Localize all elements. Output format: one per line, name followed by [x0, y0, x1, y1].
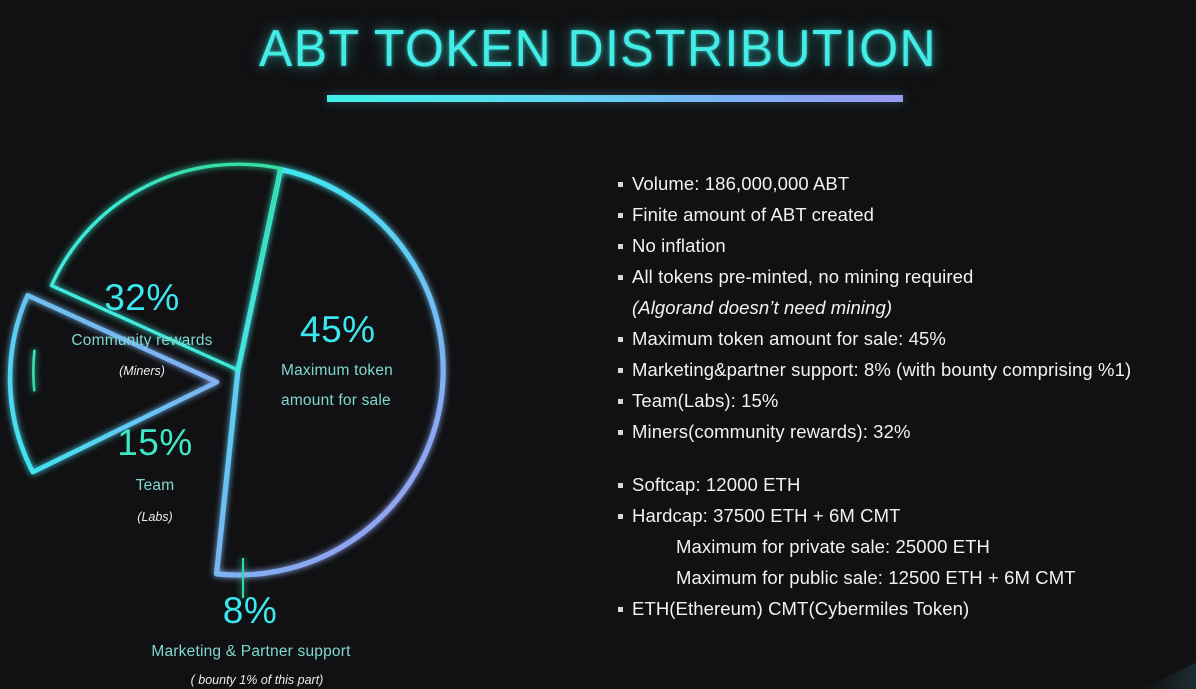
facts-row-text: ETH(Ethereum) CMT(Cybermiles Token): [614, 593, 969, 624]
facts-row: Volume: 186,000,000 ABT: [614, 168, 1184, 199]
facts-row-text: All tokens pre-minted, no mining require…: [614, 261, 973, 292]
facts-row: Hardcap: 37500 ETH + 6M CMT: [614, 500, 1184, 531]
facts-row: No inflation: [614, 230, 1184, 261]
slide-canvas: ABT TOKEN DISTRIBUTION: [0, 0, 1196, 689]
facts-row-text: No inflation: [614, 230, 726, 261]
corner-artifact: [1066, 643, 1196, 689]
pie-slice-sale[interactable]: [196, 169, 482, 612]
facts-row-text: Miners(community rewards): 32%: [614, 416, 911, 447]
facts-row-text: Marketing&partner support: 8% (with boun…: [614, 354, 1131, 385]
facts-list: Volume: 186,000,000 ABTFinite amount of …: [614, 168, 1184, 624]
facts-row: Team(Labs): 15%: [614, 385, 1184, 416]
slice-sale-label-line2: amount for sale: [281, 392, 391, 409]
facts-spacer: [614, 447, 1184, 469]
facts-row: Miners(community rewards): 32%: [614, 416, 1184, 447]
facts-row: Maximum for public sale: 12500 ETH + 6M …: [614, 562, 1184, 593]
facts-row-text: Volume: 186,000,000 ABT: [614, 168, 849, 199]
pie-chart-svg: 45% Maximum token amount for sale 32% Co…: [0, 130, 500, 689]
slice-sale-label-line1: Maximum token: [281, 362, 393, 379]
slice-sale-percent: 45%: [300, 309, 376, 350]
pie-slice-team[interactable]: [10, 295, 217, 472]
bullet-square-icon: [618, 430, 623, 435]
facts-row-text: (Algorand doesn’t need mining): [614, 292, 892, 323]
bullet-square-icon: [618, 368, 623, 373]
facts-row: Marketing&partner support: 8% (with boun…: [614, 354, 1184, 385]
facts-row: (Algorand doesn’t need mining): [614, 292, 1184, 323]
pie-slice-community[interactable]: [52, 164, 281, 370]
title-block: ABT TOKEN DISTRIBUTION: [0, 22, 1196, 77]
slice-community-note: (Miners): [119, 364, 165, 378]
facts-row-text: Finite amount of ABT created: [614, 199, 874, 230]
bullet-square-icon: [618, 213, 623, 218]
slice-marketing-percent: 8%: [223, 590, 277, 631]
facts-row: Maximum token amount for sale: 45%: [614, 323, 1184, 354]
slice-community-percent: 32%: [104, 277, 180, 318]
facts-row-text: Hardcap: 37500 ETH + 6M CMT: [614, 500, 900, 531]
page-title: ABT TOKEN DISTRIBUTION: [24, 22, 1172, 77]
bullet-square-icon: [618, 607, 623, 612]
facts-row: Finite amount of ABT created: [614, 199, 1184, 230]
bullet-square-icon: [618, 244, 623, 249]
facts-row: Softcap: 12000 ETH: [614, 469, 1184, 500]
facts-row-text: Maximum for private sale: 25000 ETH: [614, 531, 990, 562]
bullet-square-icon: [618, 514, 623, 519]
bullet-square-icon: [618, 399, 623, 404]
slice-team-note: (Labs): [137, 510, 172, 524]
facts-row: All tokens pre-minted, no mining require…: [614, 261, 1184, 292]
facts-row-text: Maximum for public sale: 12500 ETH + 6M …: [614, 562, 1076, 593]
bullet-square-icon: [618, 275, 623, 280]
facts-row: ETH(Ethereum) CMT(Cybermiles Token): [614, 593, 1184, 624]
facts-row-text: Team(Labs): 15%: [614, 385, 778, 416]
bullet-square-icon: [618, 182, 623, 187]
slice-marketing-label: Marketing & Partner support: [151, 643, 351, 660]
bullet-square-icon: [618, 483, 623, 488]
facts-row: Maximum for private sale: 25000 ETH: [614, 531, 1184, 562]
title-underline-bar: [327, 95, 903, 102]
bullet-square-icon: [618, 337, 623, 342]
facts-row-text: Maximum token amount for sale: 45%: [614, 323, 946, 354]
slice-team-label: Team: [136, 477, 175, 494]
slice-team-percent: 15%: [117, 422, 193, 463]
facts-row-text: Softcap: 12000 ETH: [614, 469, 800, 500]
pie-slice-marketing[interactable]: [30, 350, 39, 392]
pie-chart: 45% Maximum token amount for sale 32% Co…: [0, 130, 500, 689]
slice-marketing-note: ( bounty 1% of this part): [191, 673, 324, 687]
